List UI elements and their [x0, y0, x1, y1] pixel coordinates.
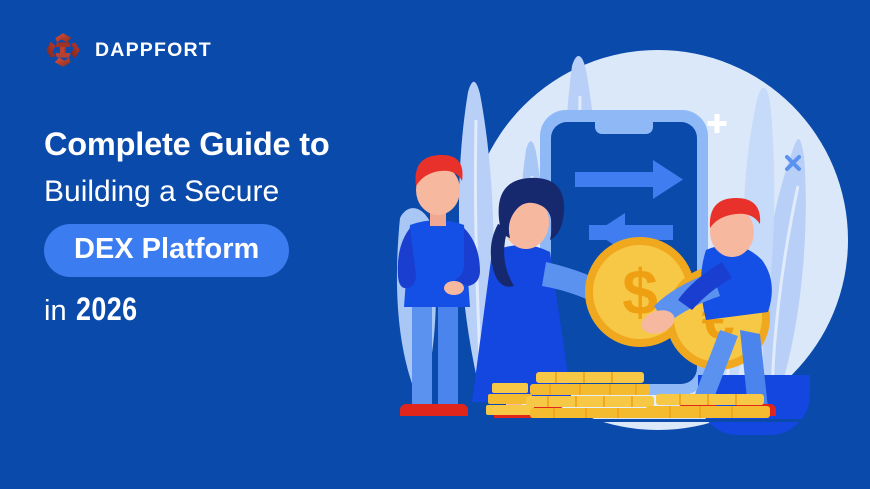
year-prefix: in	[44, 297, 67, 326]
crypto-exchange-illustration: $ €	[340, 0, 870, 489]
dex-platform-badge-label: DEX Platform	[74, 235, 259, 264]
dappfort-pinwheel-icon	[44, 31, 82, 69]
dex-platform-badge: DEX Platform	[44, 224, 289, 277]
year-value: 2026	[76, 293, 137, 325]
brand-logo[interactable]: DAPPFORT	[44, 31, 212, 69]
banner-root: DAPPFORT Complete Guide to Building a Se…	[0, 0, 870, 489]
brand-name: DAPPFORT	[95, 39, 212, 62]
coin-stack-right	[646, 394, 770, 418]
ground-line	[340, 419, 870, 422]
